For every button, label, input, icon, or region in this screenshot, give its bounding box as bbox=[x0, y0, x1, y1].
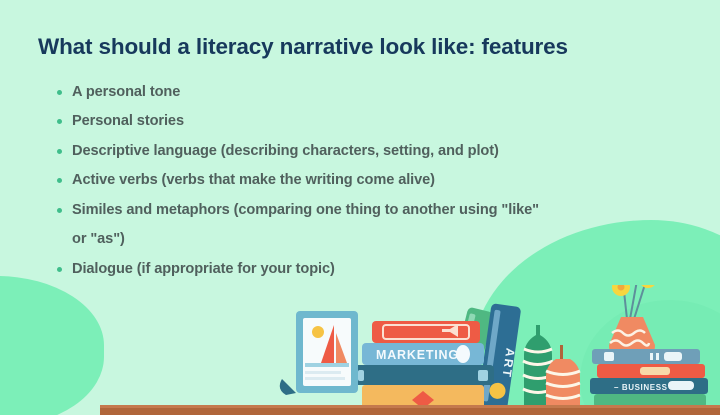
bullet-dot-icon bbox=[57, 149, 62, 154]
background-blob-left bbox=[0, 276, 104, 415]
list-item: Descriptive language (describing charact… bbox=[72, 137, 542, 167]
desk-illustration: – BUSINESS – bbox=[0, 285, 720, 415]
marketing-book-label: MARKETING bbox=[376, 348, 459, 362]
picture-frame-illustration bbox=[280, 311, 358, 395]
bullet-dot-icon bbox=[57, 178, 62, 183]
list-item-label: Active verbs (verbs that make the writin… bbox=[72, 172, 435, 188]
slide-content: What should a literacy narrative look li… bbox=[0, 0, 620, 284]
list-item-label: Dialogue (if appropriate for your topic) bbox=[72, 261, 335, 277]
bullet-dot-icon bbox=[57, 90, 62, 95]
flower-vase-illustration bbox=[609, 285, 657, 368]
flower-icon bbox=[639, 285, 657, 288]
list-item: Similes and metaphors (comparing one thi… bbox=[72, 196, 542, 255]
tilted-books: ART bbox=[444, 303, 523, 410]
list-item: Personal stories bbox=[72, 107, 542, 137]
list-item-label: Similes and metaphors (comparing one thi… bbox=[72, 202, 539, 248]
flower-icon bbox=[612, 285, 630, 296]
page-title: What should a literacy narrative look li… bbox=[0, 0, 620, 60]
vase-shape bbox=[609, 317, 655, 368]
list-item: A personal tone bbox=[72, 78, 542, 108]
slide-canvas: What should a literacy narrative look li… bbox=[0, 0, 720, 415]
bullet-dot-icon bbox=[57, 267, 62, 272]
feature-list: A personal tone Personal stories Descrip… bbox=[0, 78, 620, 285]
art-book-label: ART bbox=[499, 347, 517, 379]
list-item-label: Descriptive language (describing charact… bbox=[72, 143, 499, 159]
center-book-stack: MARKETING bbox=[352, 321, 494, 415]
background-blob-right-secondary bbox=[580, 300, 720, 415]
right-book-stack: – BUSINESS – bbox=[590, 349, 710, 415]
list-item-label: Personal stories bbox=[72, 113, 184, 129]
desk-surface bbox=[100, 405, 720, 415]
bullet-dot-icon bbox=[57, 119, 62, 124]
business-book-label: – BUSINESS – bbox=[614, 383, 675, 392]
list-item: Active verbs (verbs that make the writin… bbox=[72, 166, 542, 196]
list-item: Dialogue (if appropriate for your topic) bbox=[72, 255, 542, 285]
bottle-group bbox=[523, 325, 580, 405]
bullet-dot-icon bbox=[57, 208, 62, 213]
list-item-label: A personal tone bbox=[72, 84, 180, 100]
